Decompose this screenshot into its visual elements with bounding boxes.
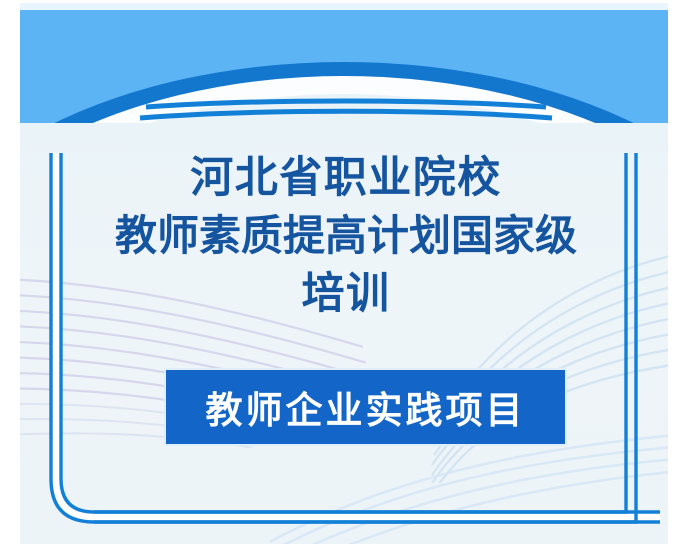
title-line-3: 培训 bbox=[84, 265, 608, 323]
title-line-1: 河北省职业院校 bbox=[84, 149, 608, 207]
outer-panel: 河北省职业院校 教师素质提高计划国家级 培训 教师企业实践项目 bbox=[20, 3, 668, 544]
subtitle-banner: 教师企业实践项目 bbox=[166, 370, 565, 444]
title-line-2: 教师素质提高计划国家级 bbox=[84, 207, 608, 265]
top-pale-strip bbox=[20, 3, 668, 10]
subtitle-banner-text: 教师企业实践项目 bbox=[206, 380, 526, 434]
poster-title: 河北省职业院校 教师素质提高计划国家级 培训 bbox=[84, 149, 608, 323]
poster-canvas: 河北省职业院校 教师素质提高计划国家级 培训 教师企业实践项目 bbox=[0, 0, 688, 544]
